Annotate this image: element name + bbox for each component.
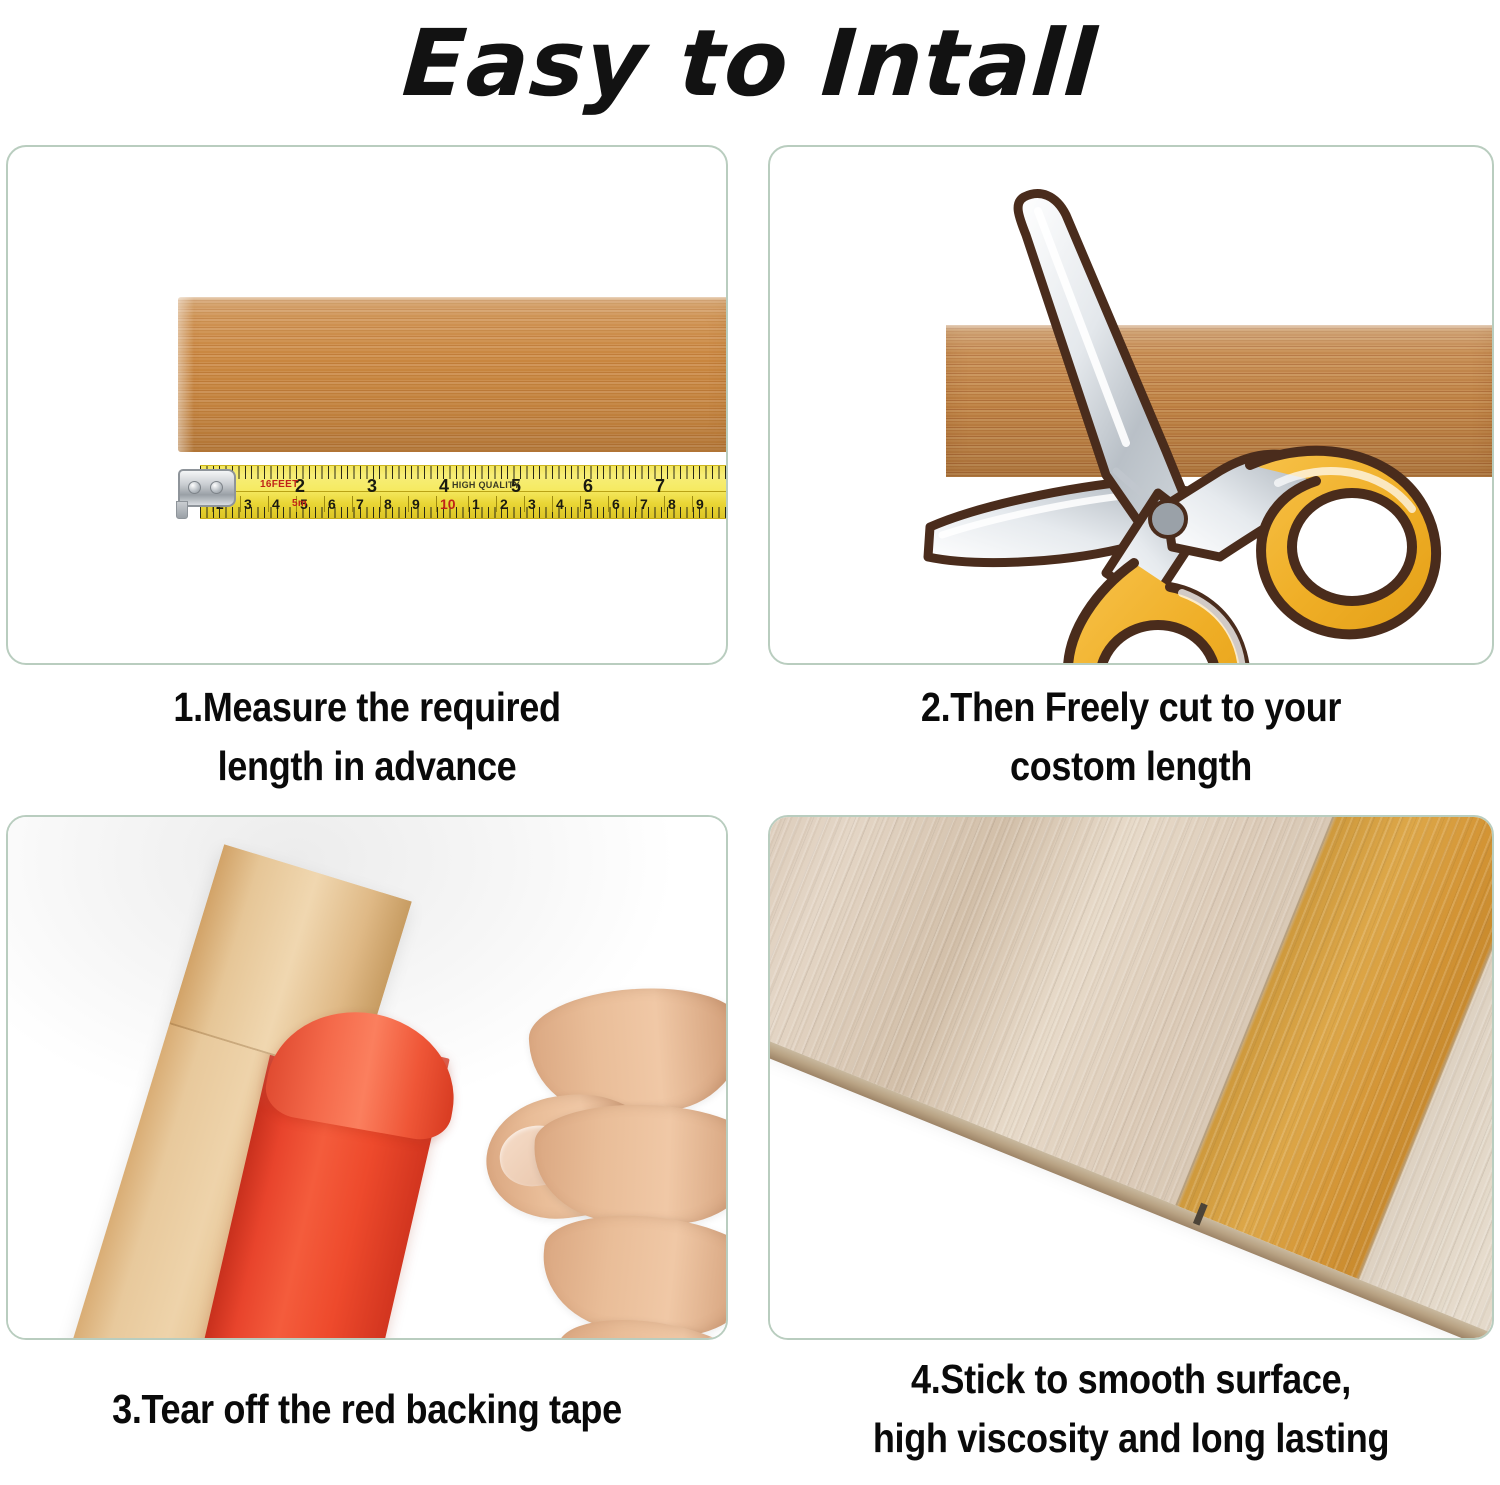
tape-cm-12: 2: [496, 496, 508, 512]
wood-grain-texture: [768, 815, 1494, 1340]
tape-inch-6: 6: [583, 476, 593, 497]
tape-ticks-top: [200, 466, 728, 479]
laminate-floor-surface: [768, 815, 1494, 1340]
tape-high-quality-label: HIGH QUALITY: [452, 480, 520, 490]
step-1-caption-line-1: 1.Measure the required: [49, 678, 684, 737]
tape-cm-15: 5: [580, 496, 592, 512]
tape-cm-14: 4: [552, 496, 564, 512]
tape-cm-10: 10: [436, 496, 456, 512]
tape-cm-6: 6: [324, 496, 336, 512]
step-2-caption: 2.Then Freely cut to your costom length: [812, 678, 1451, 797]
tape-inch-7: 7: [655, 476, 665, 497]
tape-brand-16feet: 16FEET: [260, 479, 298, 490]
step-4-image-panel: [768, 815, 1494, 1340]
step-2-image-panel: [768, 145, 1494, 665]
hand-image: [438, 977, 728, 1340]
step-4-caption-line-2: high viscosity and long lasting: [812, 1409, 1451, 1468]
installed-trim-photo: [770, 817, 1492, 1338]
step-3-caption: 3.Tear off the red backing tape: [49, 1380, 684, 1439]
tape-measure-blade: 1 2 3 4 5 6 7 2 3 4 5 6 7 8 9 10 1 2 3: [200, 465, 728, 519]
step-2-caption-line-1: 2.Then Freely cut to your: [812, 678, 1451, 737]
tape-metric-label-5m: 5m: [292, 498, 307, 509]
scissors-handle-left: [1068, 563, 1246, 665]
tape-hook-lip: [176, 501, 188, 519]
tape-center-line: [200, 491, 728, 492]
step-1-caption: 1.Measure the required length in advance: [49, 678, 684, 797]
tape-cm-8: 8: [380, 496, 392, 512]
scissors-pivot-screw: [1150, 501, 1186, 537]
scissors-blade-upper: [1018, 194, 1188, 527]
tape-cm-18: 8: [664, 496, 676, 512]
tape-cm-13: 3: [524, 496, 536, 512]
step-3-caption-line-1: 3.Tear off the red backing tape: [49, 1380, 684, 1439]
step-2-caption-line-2: costom length: [812, 737, 1451, 796]
tape-cm-7: 7: [352, 496, 364, 512]
peel-backing-tape-photo: [8, 817, 726, 1338]
tape-hook-rivet: [188, 481, 201, 494]
scissors-icon: [920, 175, 1494, 665]
tape-cm-9: 9: [408, 496, 420, 512]
tape-inch-4: 4: [439, 476, 449, 497]
tape-hook-rivet: [210, 481, 223, 494]
tape-cm-3: 3: [240, 496, 252, 512]
step-3-image-panel: [6, 815, 728, 1340]
tape-cm-4: 4: [268, 496, 280, 512]
page-title-bar: Easy to Intall: [0, 0, 1500, 128]
tape-cm-19: 9: [692, 496, 704, 512]
step-1-caption-line-2: length in advance: [49, 737, 684, 796]
tape-inch-3: 3: [367, 476, 377, 497]
wood-trim-strip-image: [178, 297, 728, 452]
tape-cm-11: 1: [468, 496, 480, 512]
tape-measure-image: 1 2 3 4 5 6 7 2 3 4 5 6 7 8 9 10 1 2 3: [178, 465, 728, 521]
step-1-image-panel: 1 2 3 4 5 6 7 2 3 4 5 6 7 8 9 10 1 2 3: [6, 145, 728, 665]
step-4-caption: 4.Stick to smooth surface, high viscosit…: [812, 1350, 1451, 1469]
step-4-caption-line-1: 4.Stick to smooth surface,: [812, 1350, 1451, 1409]
tape-cm-17: 7: [636, 496, 648, 512]
tape-cm-16: 6: [608, 496, 620, 512]
page-title: Easy to Intall: [400, 18, 1100, 110]
